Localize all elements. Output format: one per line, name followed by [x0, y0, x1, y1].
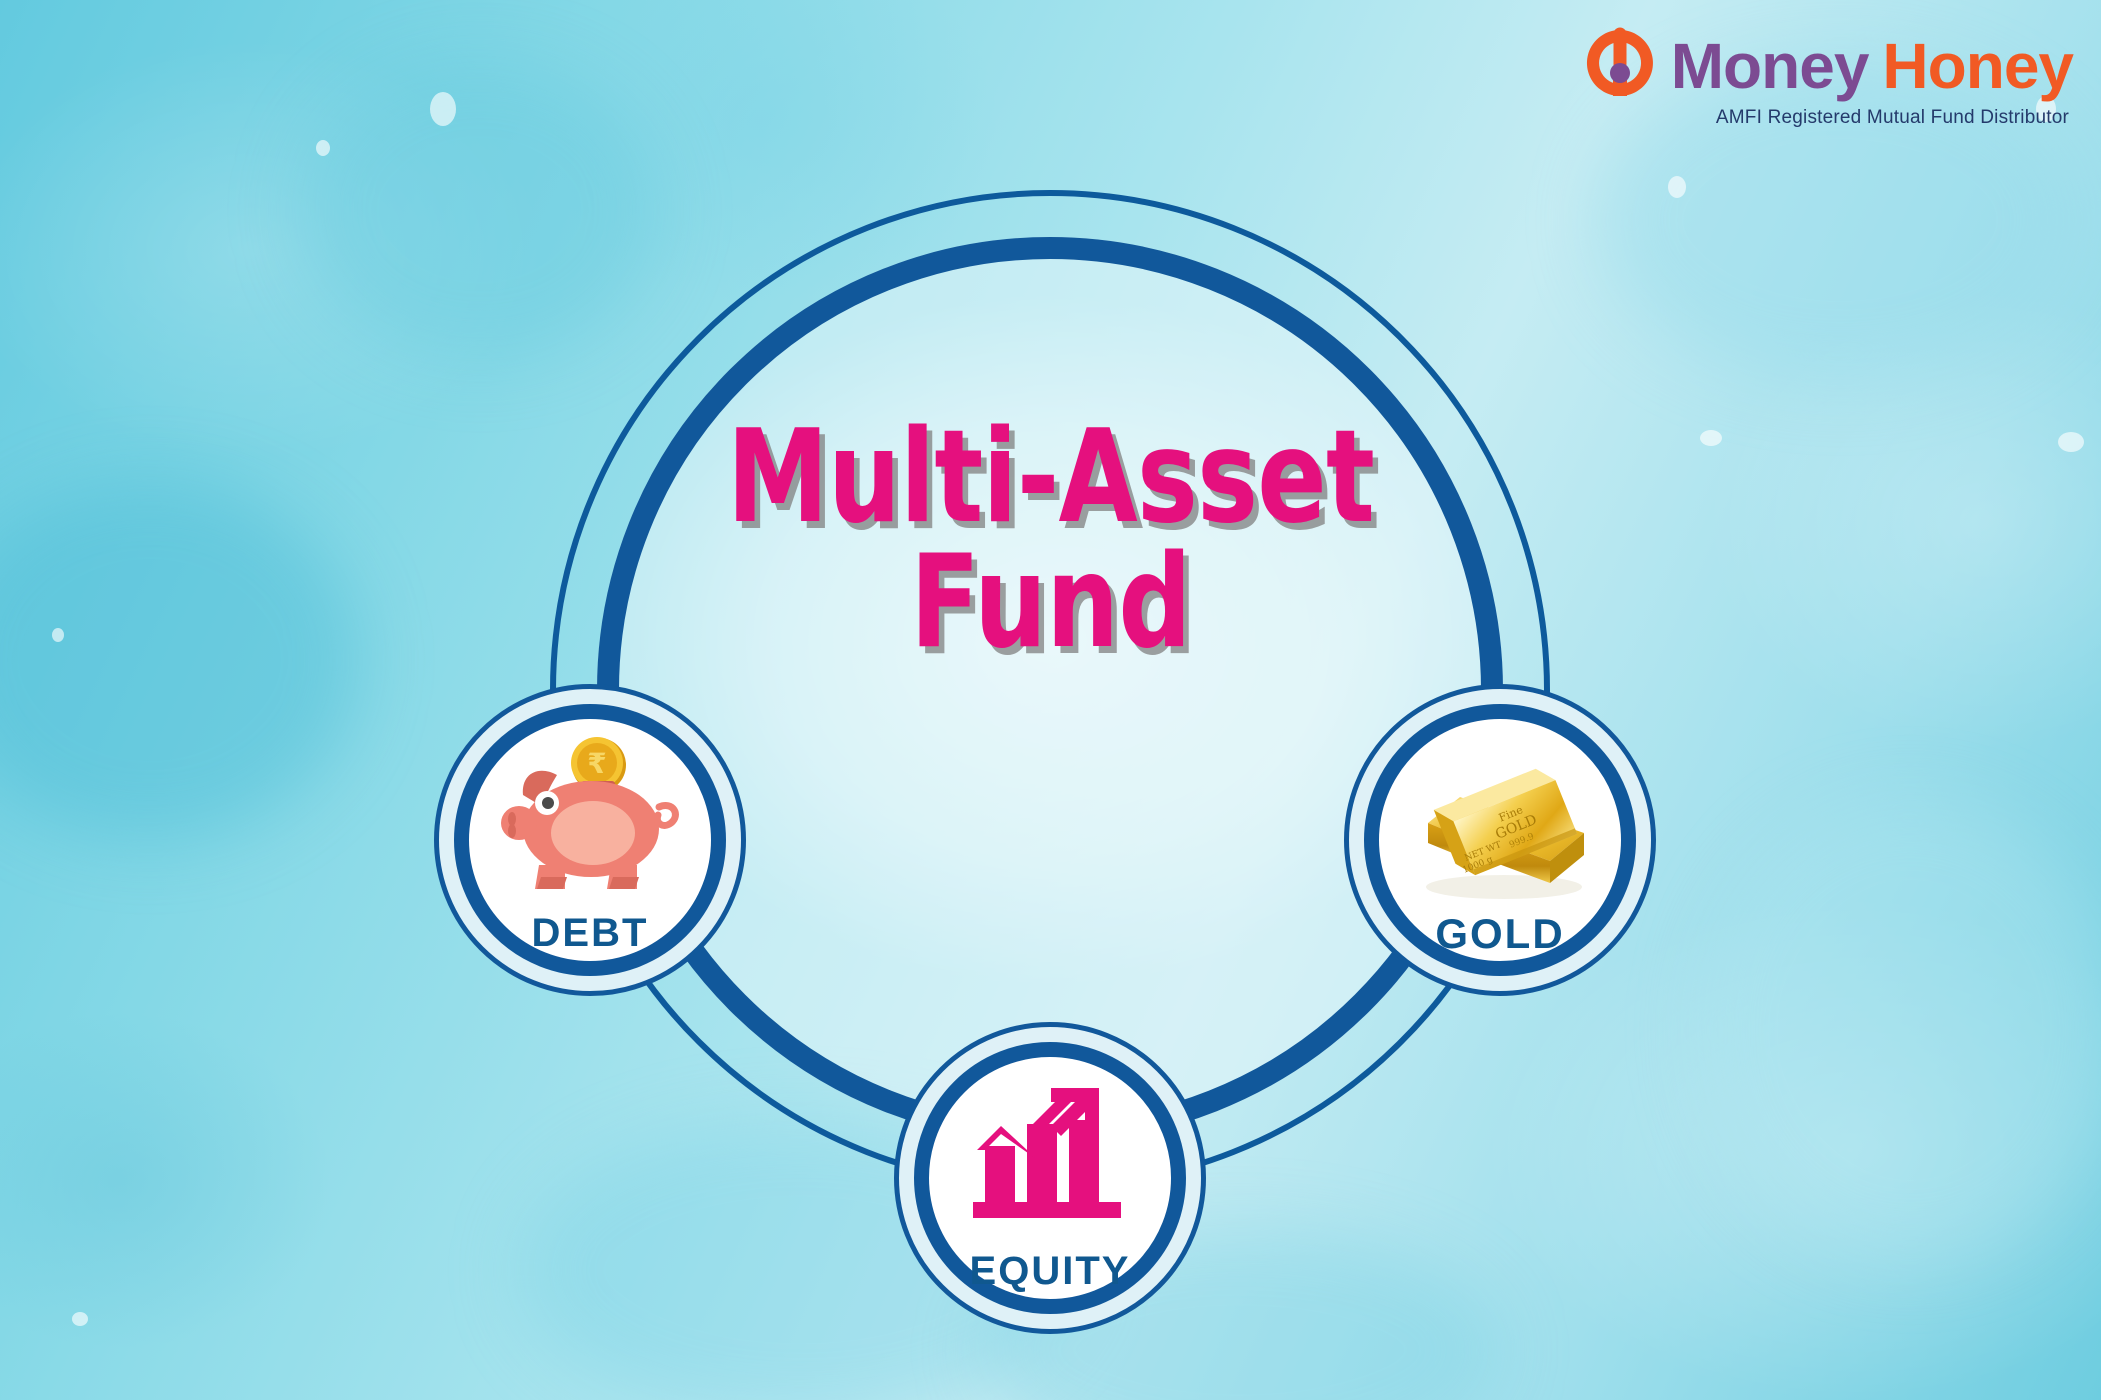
moneyhoney-ring-icon	[1583, 26, 1657, 105]
page-title: Multi-Asset Fund	[210, 415, 1891, 666]
background-speck	[2058, 432, 2084, 452]
equity-label: EQUITY	[970, 1251, 1131, 1291]
asset-node-debt[interactable]: ₹	[434, 684, 746, 996]
logo-text-honey: Honey	[1882, 34, 2073, 98]
poster-canvas: Multi-Asset Fund ₹	[0, 0, 2101, 1400]
brand-logo[interactable]: MoneyHoney AMFI Registered Mutual Fund D…	[1583, 26, 2073, 129]
background-speck	[52, 628, 64, 642]
logo-row: MoneyHoney	[1583, 26, 2073, 105]
logo-tagline: AMFI Registered Mutual Fund Distributor	[1716, 107, 2069, 129]
gold-disc: GOLD Fine GOLD 999.9 NET WT 1000 g	[1364, 704, 1636, 976]
equity-disc: EQUITY	[914, 1042, 1186, 1314]
gold-label: GOLD	[1435, 913, 1564, 955]
title-line-2: Fund	[210, 540, 1891, 665]
debt-label: DEBT	[532, 913, 649, 953]
background-speck	[72, 1312, 88, 1326]
debt-disc: ₹	[454, 704, 726, 976]
background-speck	[316, 140, 330, 156]
asset-node-gold[interactable]: GOLD Fine GOLD 999.9 NET WT 1000 g	[1344, 684, 1656, 996]
logo-text-money: Money	[1671, 34, 1869, 98]
asset-node-equity[interactable]: EQUITY	[894, 1022, 1206, 1334]
svg-text:₹: ₹	[587, 747, 606, 780]
background-speck	[1668, 176, 1686, 198]
background-speck	[430, 92, 456, 126]
background-splotch	[300, 60, 660, 360]
gold-bars-icon: GOLD Fine GOLD 999.9 NET WT 1000 g	[1400, 731, 1600, 911]
background-splotch	[1700, 800, 2101, 1260]
growth-bar-chart-arrow-icon	[965, 1069, 1135, 1249]
piggy-bank-with-rupee-coin-icon: ₹	[495, 731, 685, 911]
